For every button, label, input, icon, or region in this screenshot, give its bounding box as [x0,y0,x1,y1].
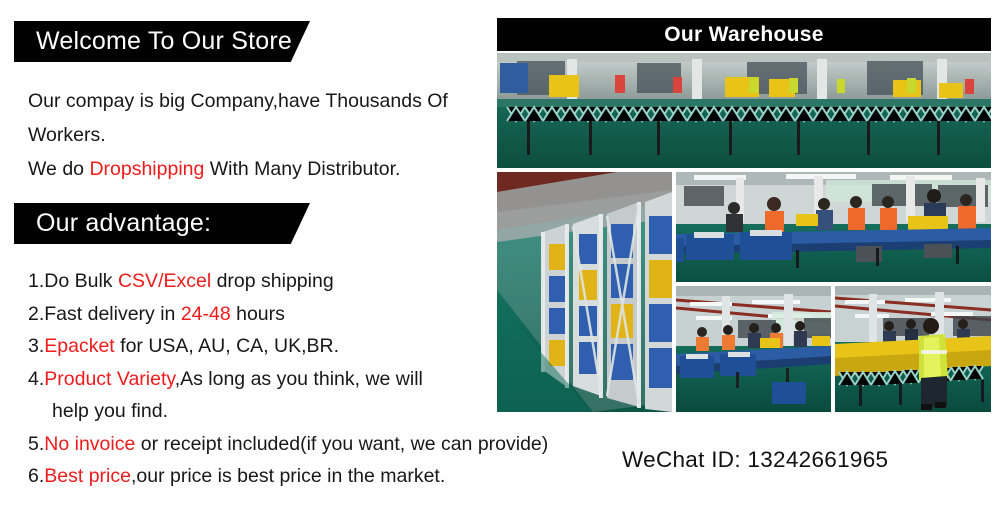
dropshipping-post: With Many Distributor. [204,158,400,180]
advantage-post-2: hours [231,303,285,325]
advantage-highlight-3: Epacket [44,335,114,357]
advantage-post-6: ,our price is best price in the market. [131,465,445,487]
warehouse-photo-conveyor-panorama [497,53,991,168]
warehouse-gallery-panel: Our Warehouse [497,0,992,516]
warehouse-header-label: Our Warehouse [664,24,823,45]
company-intro-text: Our compay is big Company,have Thousands… [28,84,494,186]
advantage-post-1: drop shipping [211,270,334,292]
intro-line-1: Our compay is big Company,have Thousands… [28,84,494,118]
advantage-highlight-1: CSV/Excel [118,270,211,292]
store-info-panel: Welcome To Our Store Our compay is big C… [0,0,500,516]
advantage-header-banner: Our advantage: [14,203,310,244]
warehouse-header-banner: Our Warehouse [497,18,991,51]
advantage-post-3: for USA, AU, CA, UK,BR. [115,335,339,357]
advantage-pre-1: Do Bulk [44,270,118,292]
welcome-header-label: Welcome To Our Store [14,29,292,54]
advantage-highlight-6: Best price [44,465,131,487]
wechat-id-text: WeChat ID: 13242661965 [622,447,888,473]
advantage-pre-2: Fast delivery in [44,303,181,325]
promo-banner-page: Welcome To Our Store Our compay is big C… [0,0,1000,516]
advantage-post-4: ,As long as you think, we will [175,368,423,390]
warehouse-staff-vest-image [835,286,991,412]
advantage-post-5: or receipt included(if you want, we can … [135,433,548,455]
warehouse-photo-shelving-aisle [497,172,672,412]
advantage-header-label: Our advantage: [14,211,211,236]
warehouse-conveyor-panorama-image [497,53,991,168]
warehouse-shelving-aisle-image [497,172,672,412]
advantage-number-1: 1. [28,270,44,292]
warehouse-photo-staff-vest [835,286,991,412]
advantage-number-3: 3. [28,335,44,357]
warehouse-packing-line-image [676,286,831,412]
warehouse-photo-sorting-conveyor [676,172,991,282]
advantage-highlight-5: No invoice [44,433,135,455]
welcome-header-banner: Welcome To Our Store [14,21,310,62]
advantage-number-6: 6. [28,465,44,487]
advantage-number-2: 2. [28,303,44,325]
advantage-highlight-2: 24-48 [181,303,231,325]
dropshipping-pre: We do [28,158,89,180]
intro-line-2: Workers. [28,118,494,152]
warehouse-photo-packing-line [676,286,831,412]
dropshipping-line: We do Dropshipping With Many Distributor… [28,152,494,186]
advantage-number-4: 4. [28,368,44,390]
warehouse-sorting-conveyor-image [676,172,991,282]
advantage-number-5: 5. [28,433,44,455]
advantage-highlight-4: Product Variety [44,368,174,390]
dropshipping-highlight: Dropshipping [89,158,204,180]
